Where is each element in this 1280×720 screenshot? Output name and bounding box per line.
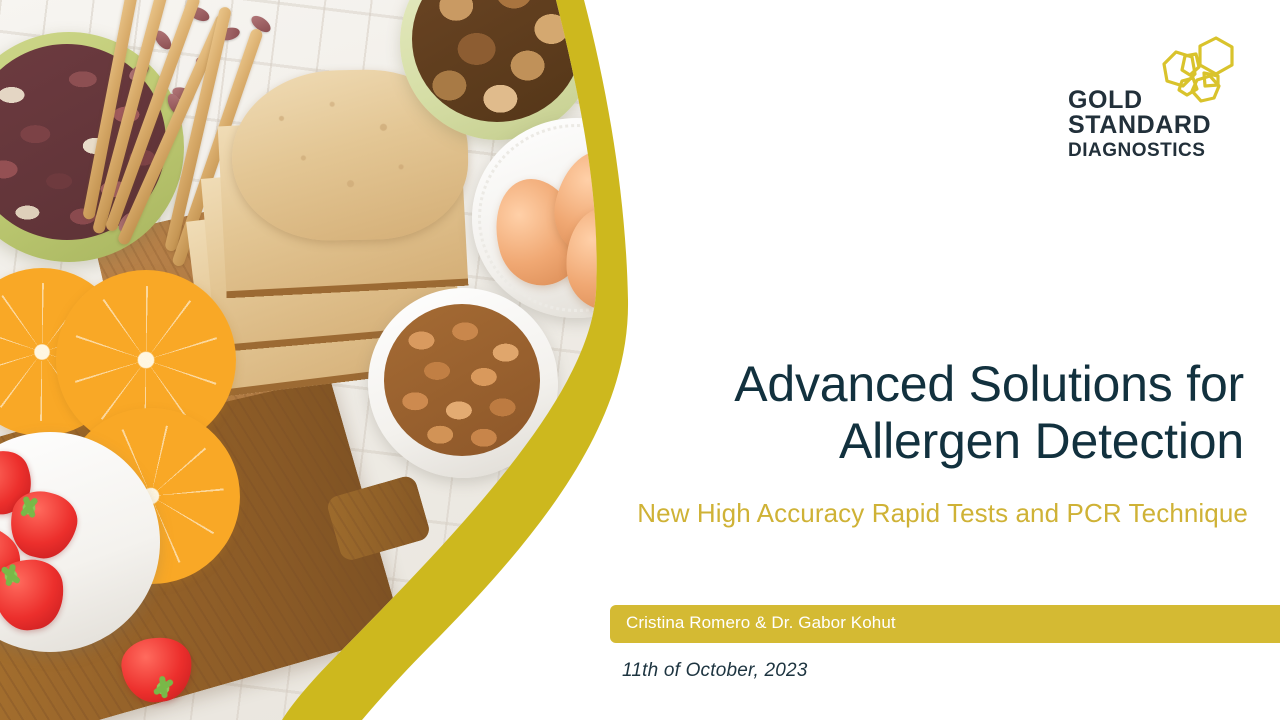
food-photo — [0, 0, 660, 720]
title-line-1: Advanced Solutions for — [600, 356, 1244, 413]
presentation-title-slide: GOLD STANDARD DIAGNOSTICS Advanced Solut… — [0, 0, 1280, 720]
food-photo-canvas — [0, 0, 660, 720]
page-title: Advanced Solutions for Allergen Detectio… — [600, 356, 1244, 470]
title-line-2: Allergen Detection — [600, 413, 1244, 470]
logo-line-1: GOLD — [1068, 88, 1211, 113]
strawberry-leaf — [14, 496, 43, 520]
logo-line-2: STANDARD — [1068, 113, 1211, 138]
authors-text: Cristina Romero & Dr. Gabor Kohut — [626, 613, 896, 633]
almonds-bowl — [368, 288, 558, 478]
page-subtitle: New High Accuracy Rapid Tests and PCR Te… — [560, 498, 1248, 529]
logo-wordmark: GOLD STANDARD DIAGNOSTICS — [1068, 88, 1211, 160]
logo-line-3: DIAGNOSTICS — [1068, 141, 1211, 160]
authors-bar: Cristina Romero & Dr. Gabor Kohut — [610, 605, 1280, 643]
company-logo: GOLD STANDARD DIAGNOSTICS — [1068, 34, 1238, 162]
presentation-date: 11th of October, 2023 — [622, 660, 808, 682]
